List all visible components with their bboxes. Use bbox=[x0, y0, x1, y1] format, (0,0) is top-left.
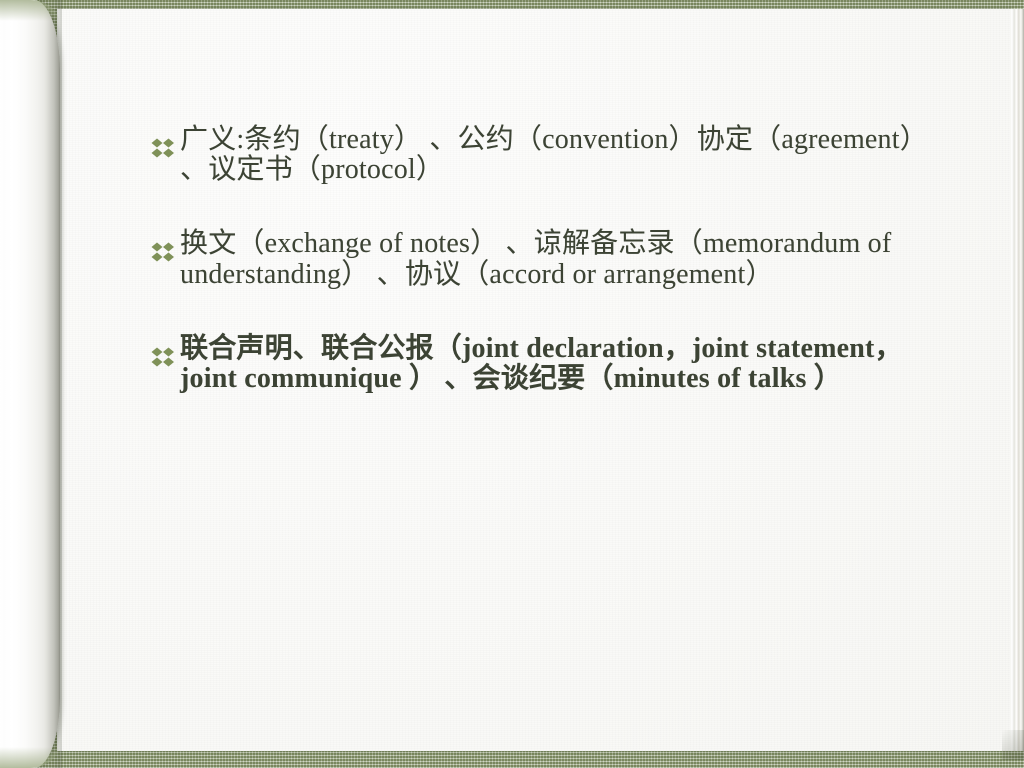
bullet-item-text: 换文（exchange of notes） 、谅解备忘录（memorandum … bbox=[180, 229, 950, 289]
bullet-list-item: 广义:条约（treaty） 、公约（convention）协定（agreemen… bbox=[150, 125, 950, 185]
four-diamond-cluster-bullet-icon bbox=[150, 346, 180, 380]
presentation-slide: 广义:条约（treaty） 、公约（convention）协定（agreemen… bbox=[0, 0, 1024, 768]
four-diamond-cluster-bullet-icon bbox=[150, 137, 180, 171]
slide-body-content: 广义:条约（treaty） 、公约（convention）协定（agreemen… bbox=[150, 125, 950, 685]
bullet-item-text: 联合声明、联合公报（joint declaration，joint statem… bbox=[180, 334, 950, 394]
page-curl-left bbox=[0, 0, 60, 768]
bullet-list-item: 换文（exchange of notes） 、谅解备忘录（memorandum … bbox=[150, 229, 950, 289]
bullet-item-text: 广义:条约（treaty） 、公约（convention）协定（agreemen… bbox=[180, 125, 950, 185]
page-curl-bottom-tip bbox=[0, 738, 60, 768]
page-stack-edge bbox=[1010, 9, 1024, 751]
page-curl-top-tip bbox=[0, 0, 60, 30]
bullet-list-item: 联合声明、联合公报（joint declaration，joint statem… bbox=[150, 334, 950, 394]
four-diamond-cluster-bullet-icon bbox=[150, 241, 180, 275]
